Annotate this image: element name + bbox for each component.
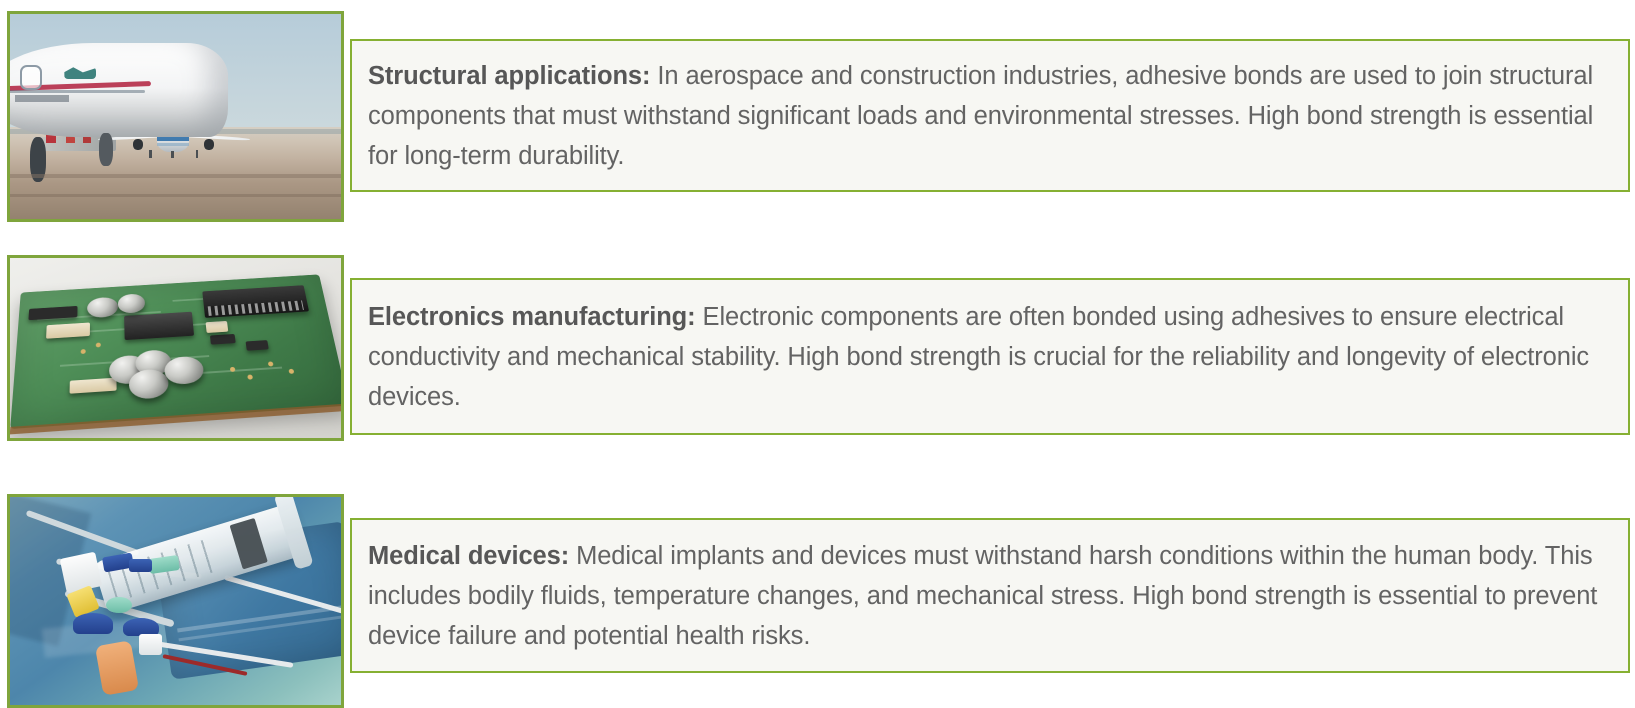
- pcb-pad: [80, 349, 85, 354]
- circuit-board-photo: [7, 255, 344, 441]
- airplane-photo: [7, 11, 344, 222]
- pcb-chip: [28, 306, 78, 320]
- card-lead-label: Electronics manufacturing:: [368, 303, 696, 331]
- medical-syringe-photo: [7, 494, 344, 708]
- pcb-chip: [245, 340, 268, 351]
- center-aircraft-livery-band: [157, 137, 189, 141]
- foreground-aircraft-nose: [10, 43, 228, 137]
- medical-scene: [10, 497, 341, 705]
- pcb-connector-white: [45, 323, 89, 339]
- runway-marking-2: [10, 194, 341, 197]
- card-lead-label: Medical devices:: [368, 542, 569, 570]
- text-panel-electronics: Electronics manufacturing: Electronic co…: [350, 278, 1630, 435]
- slide-canvas: Structural applications: In aerospace an…: [0, 0, 1635, 708]
- stopcock-blue-wing: [73, 613, 113, 634]
- pcb-pad: [288, 369, 294, 374]
- card-paragraph: Medical devices: Medical implants and de…: [368, 536, 1602, 656]
- syringe-plunger: [229, 518, 268, 569]
- text-panel-structural: Structural applications: In aerospace an…: [350, 39, 1630, 192]
- pcb-substrate: [10, 275, 341, 430]
- connector-blue: [129, 559, 152, 571]
- luer-lock-white: [139, 634, 162, 655]
- center-aircraft-engine-left: [133, 139, 143, 150]
- card-paragraph: Structural applications: In aerospace an…: [368, 56, 1602, 176]
- pcb-header-pins: [207, 301, 304, 316]
- pcb-pad: [267, 362, 273, 367]
- center-aircraft-livery-band-2: [157, 143, 189, 145]
- foreground-aircraft-titles: [15, 95, 69, 102]
- pcb-connector-white: [69, 378, 116, 394]
- pcb-capacitor: [163, 355, 204, 385]
- pcb-component-white: [205, 321, 228, 334]
- center-aircraft-engine-right: [204, 139, 214, 150]
- center-aircraft-gear-nose: [171, 151, 173, 158]
- foreground-aircraft-livery-mark: [64, 67, 96, 79]
- airplane-photo-scene: [10, 14, 341, 219]
- pcb-pad: [246, 374, 252, 379]
- center-aircraft-gear-right: [196, 150, 199, 158]
- foreground-aircraft-door: [20, 65, 42, 90]
- card-lead-label: Structural applications:: [368, 62, 650, 90]
- text-panel-medical: Medical devices: Medical implants and de…: [350, 518, 1630, 673]
- foreground-aircraft-nose-gear: [99, 133, 112, 166]
- pcb-pad: [96, 343, 101, 348]
- pcb-chip: [209, 334, 235, 345]
- circuit-board-scene: [10, 258, 341, 438]
- runway-marking-1: [10, 174, 341, 178]
- pcb-capacitor: [128, 369, 169, 400]
- pcb-capacitor: [117, 294, 145, 314]
- foreground-aircraft-stripe-2: [10, 90, 145, 93]
- center-aircraft-gear-left: [149, 150, 152, 158]
- pcb-header-connector: [202, 285, 309, 318]
- pcb-processor-chip: [124, 312, 194, 341]
- card-paragraph: Electronics manufacturing: Electronic co…: [368, 297, 1602, 417]
